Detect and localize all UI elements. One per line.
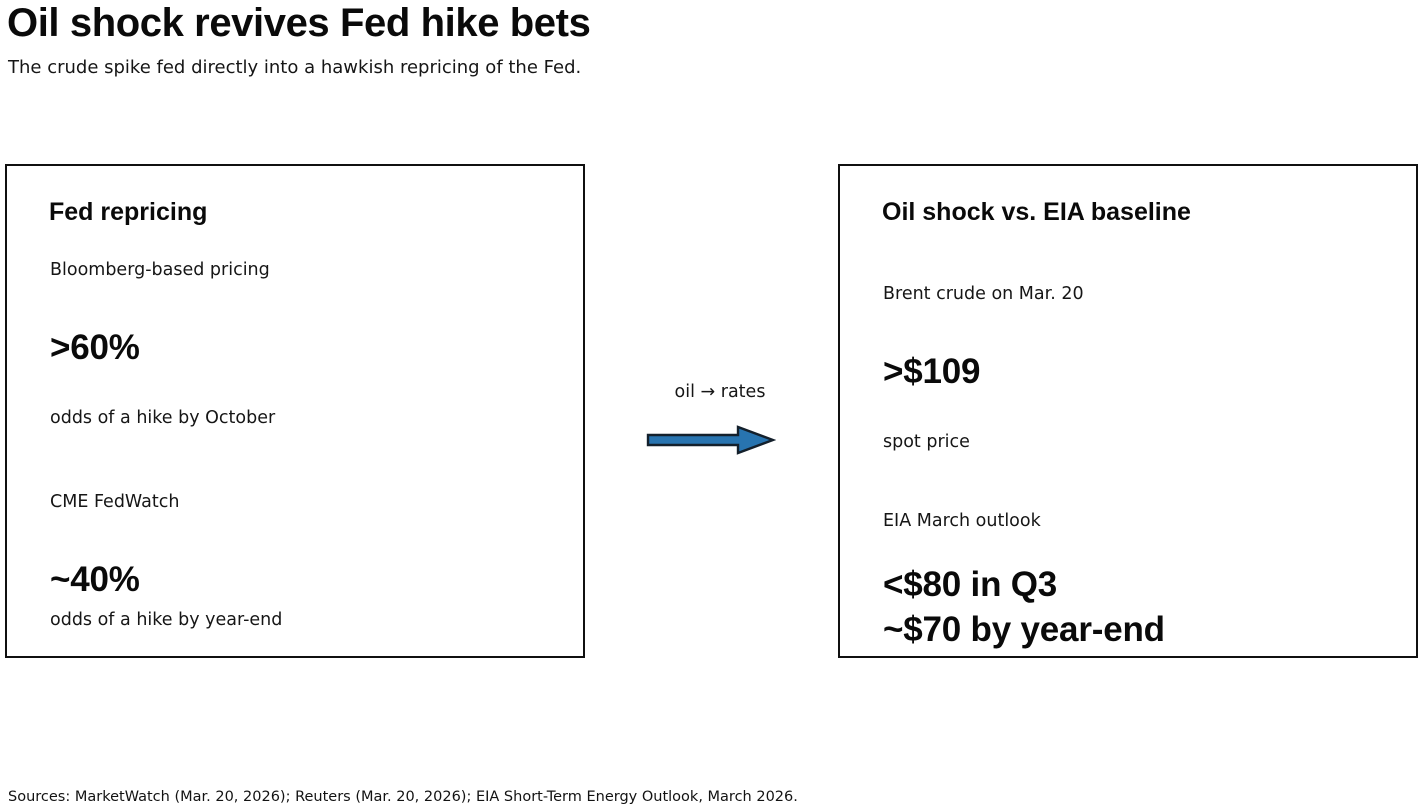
connector-label: oil → rates bbox=[620, 382, 820, 402]
panel-right-row-1-caption: EIA March outlook bbox=[883, 511, 1041, 531]
panel-right-row-0-value: >$109 bbox=[883, 352, 980, 392]
panel-right-row-0-note: spot price bbox=[883, 432, 970, 452]
panel-right-row-1-value: <$80 in Q3 ~$70 by year-end bbox=[883, 563, 1165, 653]
connector-oil-to-rates: oil → rates bbox=[620, 382, 820, 462]
panel-fed-repricing: Fed repricing Bloomberg-based pricing >6… bbox=[5, 164, 585, 658]
panel-left-row-1-note: odds of a hike by year-end bbox=[50, 610, 282, 630]
panel-left-row-0-value: >60% bbox=[50, 328, 140, 368]
panel-right-content: Oil shock vs. EIA baseline Brent crude o… bbox=[840, 166, 1416, 656]
panel-right-row-0-caption: Brent crude on Mar. 20 bbox=[883, 284, 1084, 304]
panel-left-row-0-note: odds of a hike by October bbox=[50, 408, 275, 428]
panel-left-row-1-value: ~40% bbox=[50, 560, 140, 600]
right-arrow-icon bbox=[646, 424, 776, 456]
panel-right-title: Oil shock vs. EIA baseline bbox=[882, 198, 1191, 227]
panel-left-row-0-caption: Bloomberg-based pricing bbox=[50, 260, 270, 280]
page-title: Oil shock revives Fed hike bets bbox=[7, 2, 590, 44]
panel-left-content: Fed repricing Bloomberg-based pricing >6… bbox=[7, 166, 583, 656]
page-subtitle: The crude spike fed directly into a hawk… bbox=[8, 57, 581, 78]
sources-note: Sources: MarketWatch (Mar. 20, 2026); Re… bbox=[8, 789, 798, 805]
panel-oil-shock-vs-eia-baseline: Oil shock vs. EIA baseline Brent crude o… bbox=[838, 164, 1418, 658]
panel-left-row-1-caption: CME FedWatch bbox=[50, 492, 179, 512]
panel-left-title: Fed repricing bbox=[49, 198, 207, 227]
